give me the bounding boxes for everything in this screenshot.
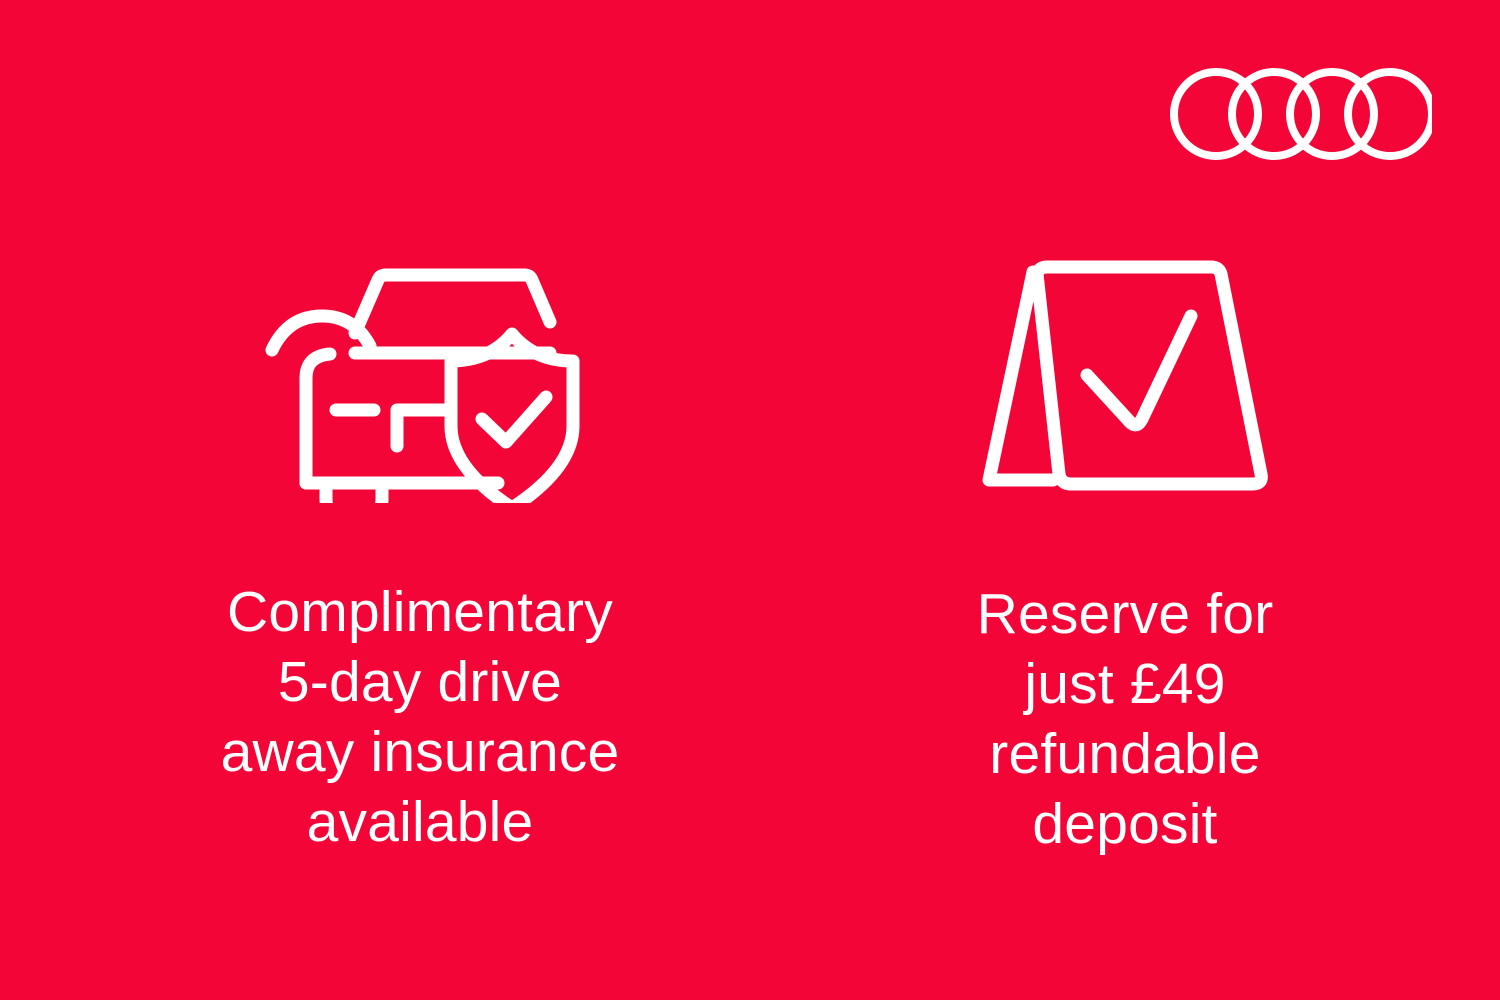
car-shield-insurance-icon [250,258,590,503]
feature-deposit-caption: Reserve for just £49 refundable deposit [977,579,1274,859]
feature-insurance-caption: Complimentary 5-day drive away insurance… [221,577,620,857]
feature-deposit: Reserve for just £49 refundable deposit [860,258,1390,859]
promo-panel: Complimentary 5-day drive away insurance… [0,0,1500,1000]
feature-insurance: Complimentary 5-day drive away insurance… [120,258,720,857]
tent-card-check-icon [975,258,1275,503]
feature-list: Complimentary 5-day drive away insurance… [0,0,1500,1000]
